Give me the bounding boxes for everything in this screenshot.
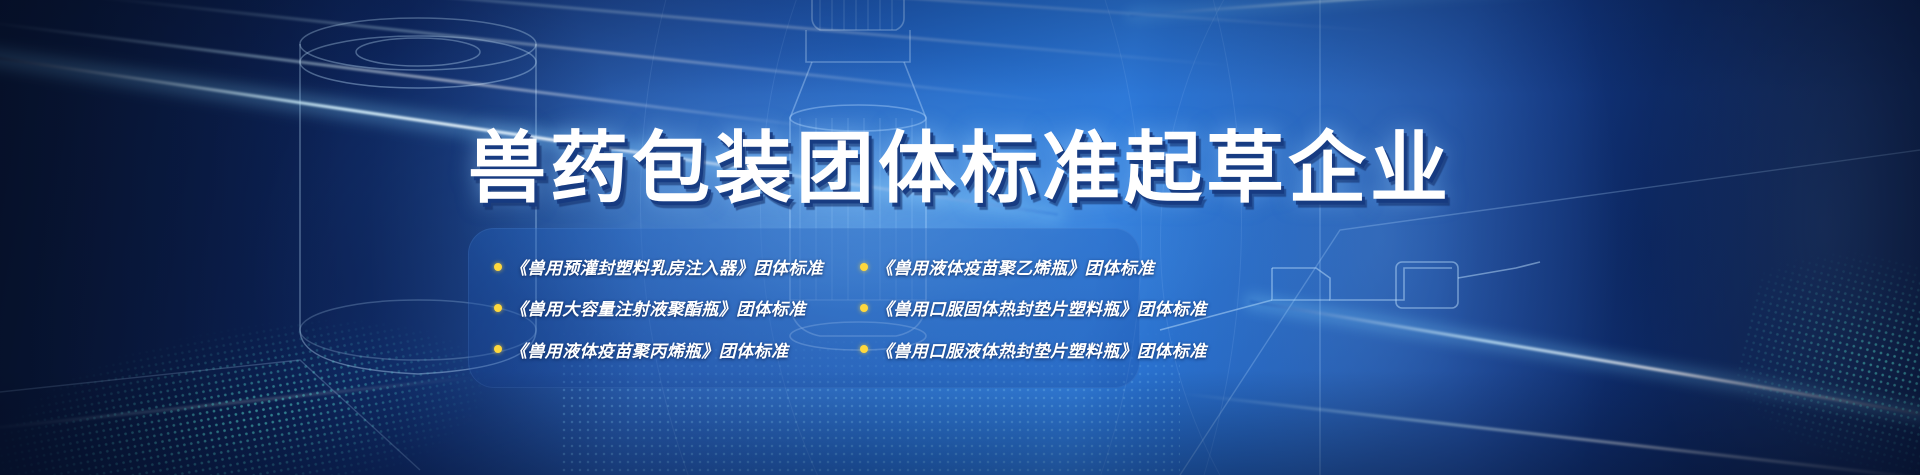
standard-label: 《兽用口服固体热封垫片塑料瓶》团体标准 [876,295,1207,320]
list-item[interactable]: 《兽用口服固体热封垫片塑料瓶》团体标准 [860,295,1207,320]
list-item[interactable]: 《兽用大容量注射液聚酯瓶》团体标准 [494,295,860,320]
list-item[interactable]: 《兽用液体疫苗聚丙烯瓶》团体标准 [494,337,860,362]
standards-list: 《兽用预灌封塑料乳房注入器》团体标准 《兽用液体疫苗聚乙烯瓶》团体标准 《兽用大… [468,228,1140,388]
page-title: 兽药包装团体标准起草企业 [0,130,1920,208]
dot-bullet-icon [860,263,868,271]
list-item[interactable]: 《兽用液体疫苗聚乙烯瓶》团体标准 [860,254,1207,279]
standards-panel: 《兽用预灌封塑料乳房注入器》团体标准 《兽用液体疫苗聚乙烯瓶》团体标准 《兽用大… [468,228,1140,388]
standard-label: 《兽用口服液体热封垫片塑料瓶》团体标准 [876,337,1207,362]
standard-label: 《兽用液体疫苗聚丙烯瓶》团体标准 [510,337,788,362]
standard-label: 《兽用液体疫苗聚乙烯瓶》团体标准 [876,254,1154,279]
standard-label: 《兽用大容量注射液聚酯瓶》团体标准 [510,295,806,320]
dot-bullet-icon [494,263,502,271]
dot-bullet-icon [494,304,502,312]
standard-label: 《兽用预灌封塑料乳房注入器》团体标准 [510,254,823,279]
dot-bullet-icon [494,345,502,353]
dot-bullet-icon [860,345,868,353]
list-item[interactable]: 《兽用口服液体热封垫片塑料瓶》团体标准 [860,337,1207,362]
list-item[interactable]: 《兽用预灌封塑料乳房注入器》团体标准 [494,254,860,279]
banner: 兽药包装团体标准起草企业 《兽用预灌封塑料乳房注入器》团体标准 《兽用液体疫苗聚… [0,0,1920,475]
dot-bullet-icon [860,304,868,312]
